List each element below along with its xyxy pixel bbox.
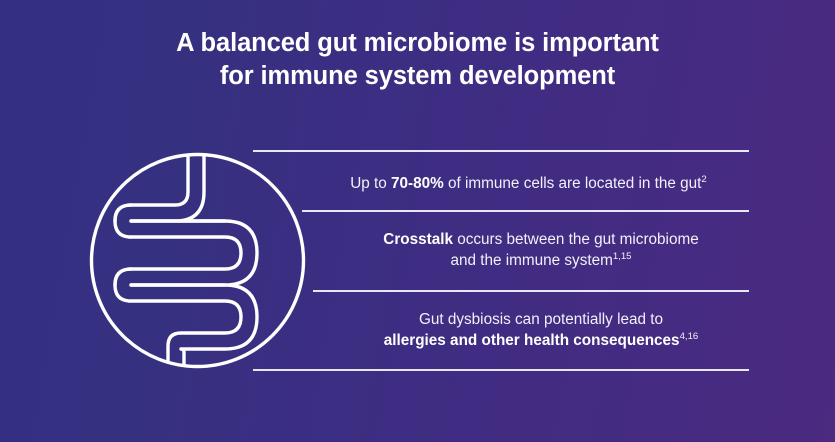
fact-text-segment: Up to xyxy=(350,175,391,192)
divider-top xyxy=(253,150,749,152)
fact-text-segment: and the immune system xyxy=(450,252,612,269)
citation-superscript: 1,15 xyxy=(613,251,632,262)
citation-superscript: 4,16 xyxy=(680,331,699,342)
page-title-line-1: A balanced gut microbiome is important xyxy=(0,27,835,60)
citation-superscript: 2 xyxy=(701,174,706,185)
intestine-tube-path xyxy=(115,152,257,369)
fact-text-emphasis: 70-80% xyxy=(391,175,444,192)
page-title-line-2: for immune system development xyxy=(0,60,835,93)
fact-text-segment: occurs between the gut microbiome xyxy=(453,231,699,248)
fact-text-segment: of immune cells are located in the gut xyxy=(444,175,702,192)
divider-bottom xyxy=(253,369,749,371)
fact-immune-cells: Up to 70-80% of immune cells are located… xyxy=(308,173,749,194)
fact-immune-cells-line-1: Up to 70-80% of immune cells are located… xyxy=(308,173,749,194)
divider-1 xyxy=(302,210,749,212)
fact-dysbiosis: Gut dysbiosis can potentially lead to al… xyxy=(333,309,749,351)
fact-crosstalk-line-2: and the immune system1,15 xyxy=(333,250,749,271)
fact-text-emphasis: allergies and other health consequences xyxy=(384,332,680,349)
page-title: A balanced gut microbiome is important f… xyxy=(0,27,835,93)
divider-2 xyxy=(313,290,749,292)
fact-dysbiosis-line-1: Gut dysbiosis can potentially lead to xyxy=(333,309,749,330)
fact-crosstalk-line-1: Crosstalk occurs between the gut microbi… xyxy=(333,229,749,250)
fact-text-emphasis: Crosstalk xyxy=(383,231,453,248)
fact-text-segment: Gut dysbiosis can potentially lead to xyxy=(419,311,663,328)
fact-crosstalk: Crosstalk occurs between the gut microbi… xyxy=(333,229,749,271)
facts-panel: Up to 70-80% of immune cells are located… xyxy=(253,150,749,372)
fact-dysbiosis-line-2: allergies and other health consequences4… xyxy=(333,330,749,351)
